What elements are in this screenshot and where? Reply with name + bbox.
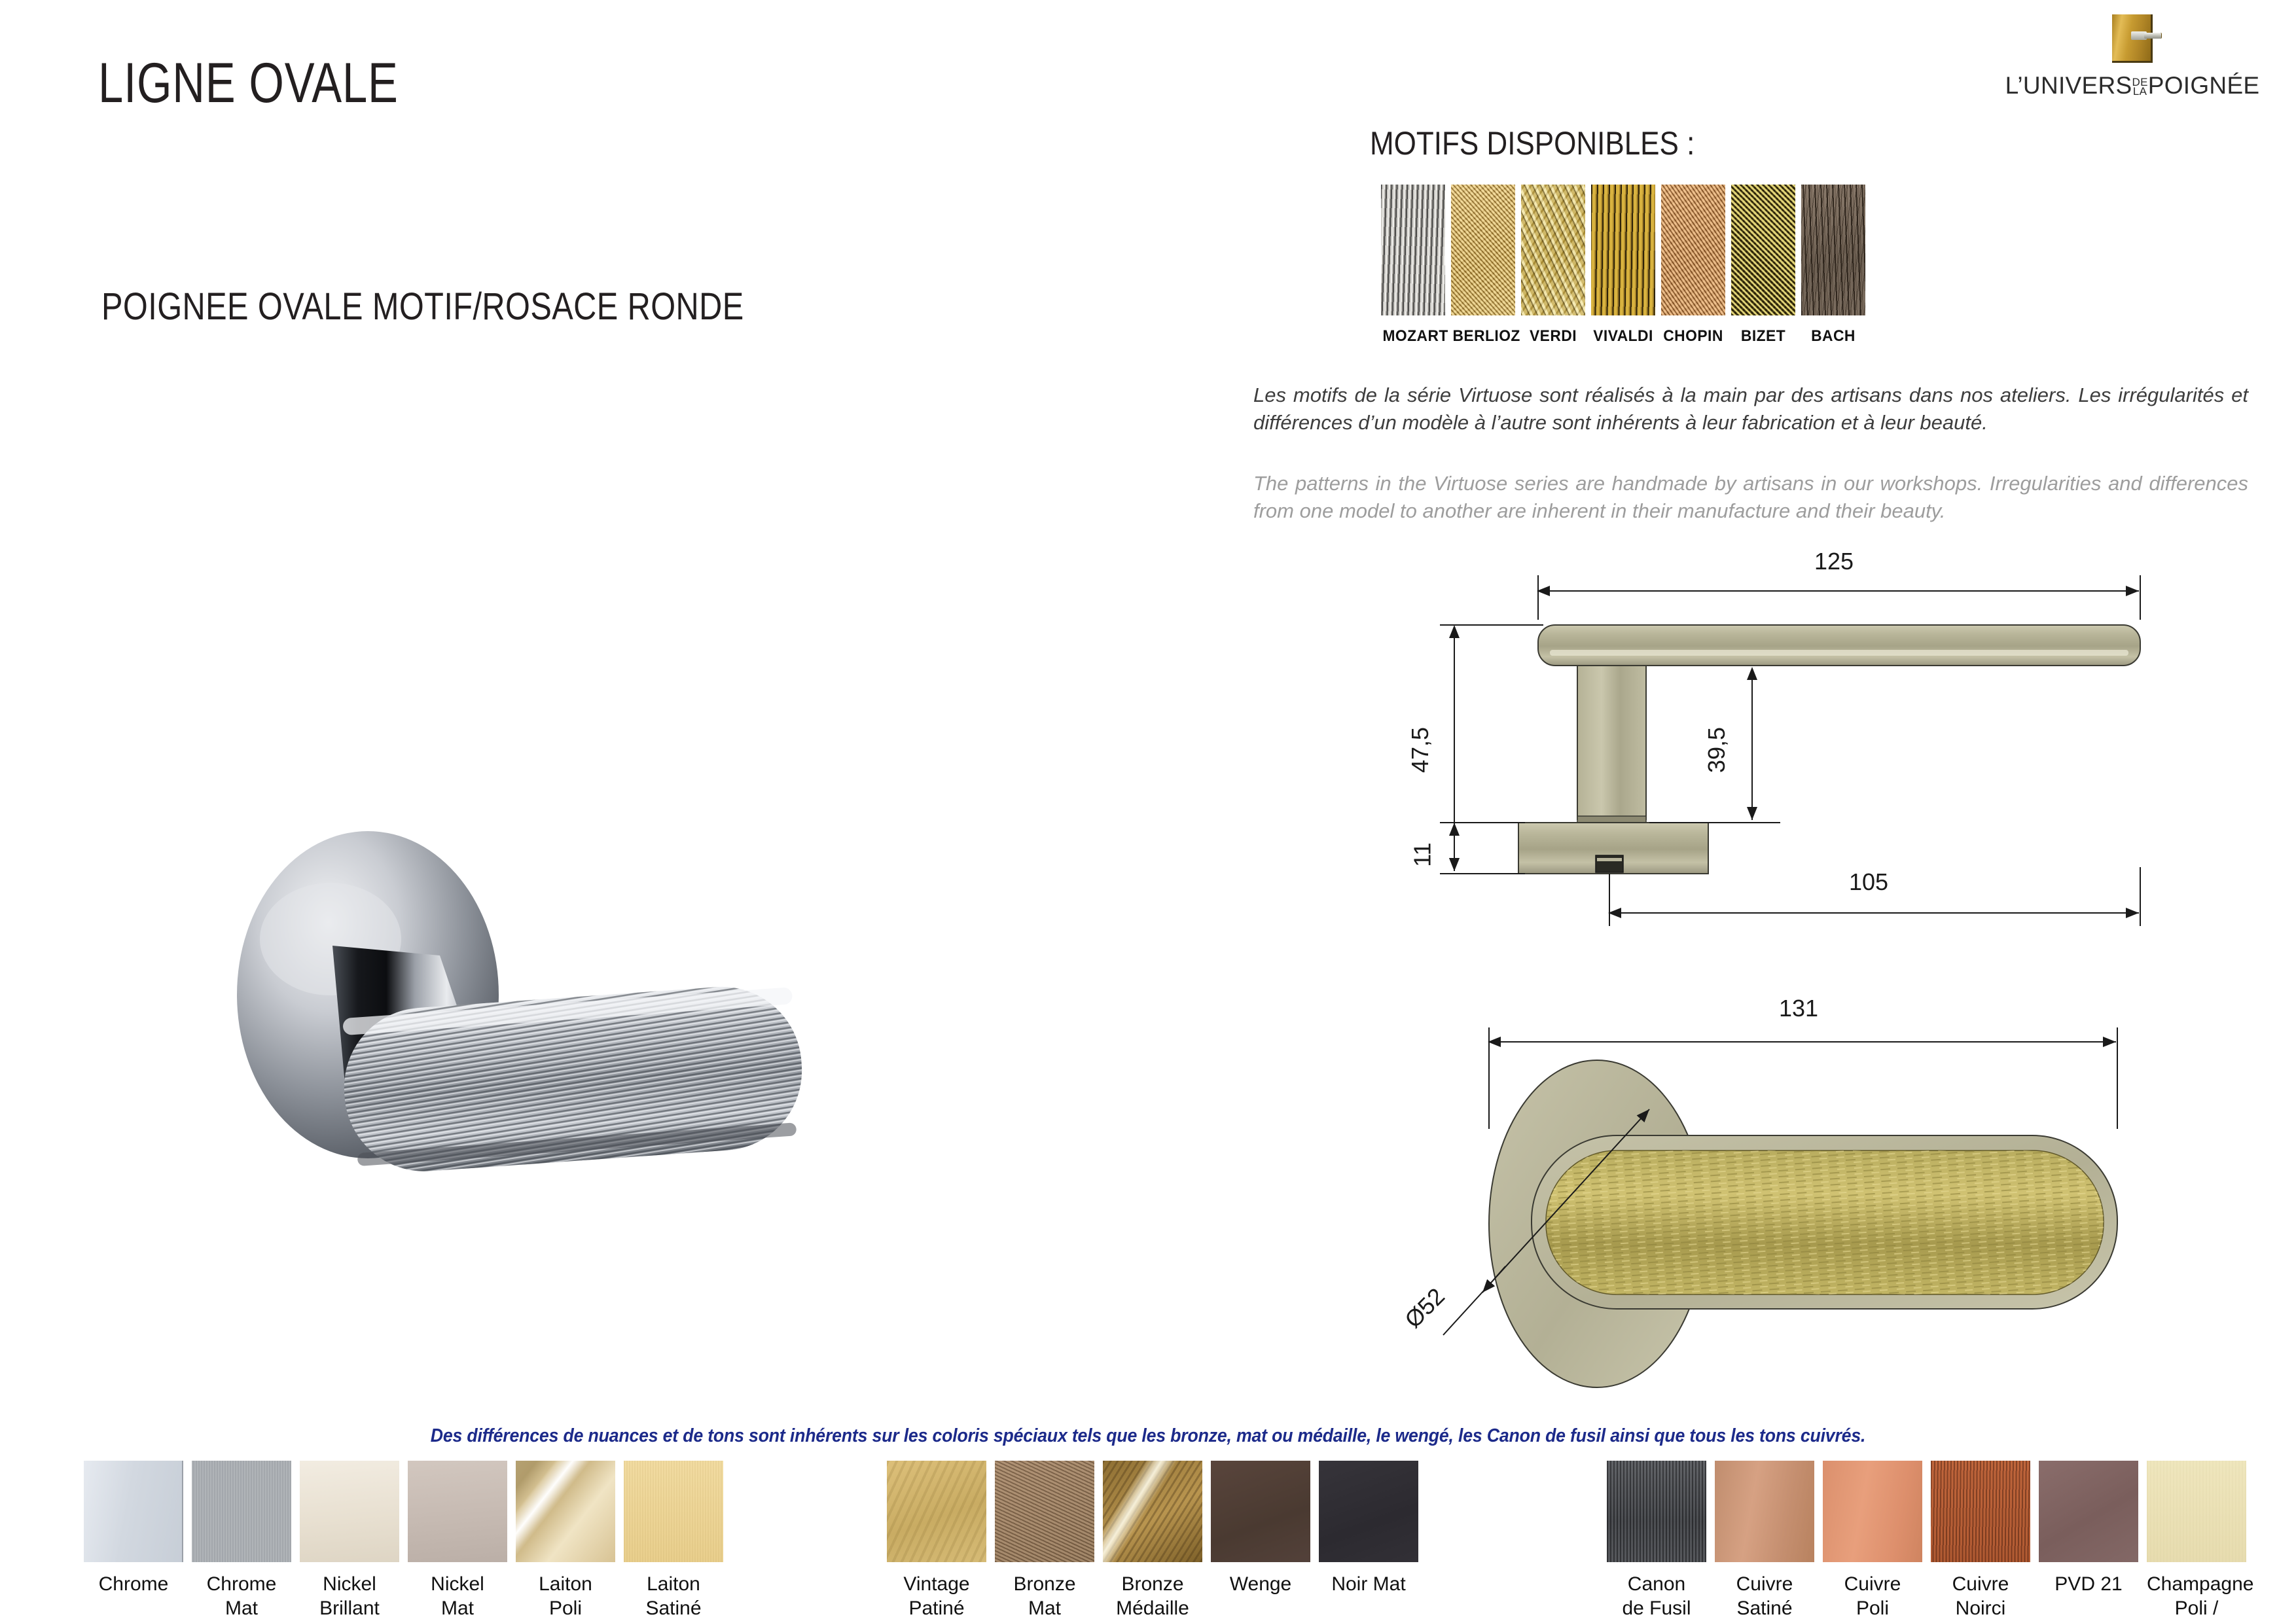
top-view-svg bbox=[1407, 988, 2278, 1394]
product-photo-svg bbox=[183, 798, 956, 1217]
page-subtitle: POIGNEE OVALE MOTIF/ROSACE RONDE bbox=[101, 285, 744, 329]
finish-swatch[interactable] bbox=[192, 1461, 291, 1562]
finish-swatch[interactable] bbox=[1823, 1461, 1922, 1562]
colour-variation-notice: Des différences de nuances et de tons so… bbox=[92, 1425, 2204, 1447]
finish-label: Cuivre Noirci bbox=[1931, 1573, 2030, 1620]
finish-swatch[interactable] bbox=[516, 1461, 615, 1562]
motif-item[interactable]: BERLIOZ bbox=[1451, 185, 1515, 346]
motif-label: CHOPIN bbox=[1662, 327, 1723, 346]
finish-item[interactable]: Bronze Médaille bbox=[1103, 1461, 1202, 1623]
finish-item[interactable]: Nickel Mat bbox=[408, 1461, 507, 1620]
finish-label: Nickel Mat bbox=[408, 1573, 507, 1620]
finish-label: Cuivre Poli bbox=[1823, 1573, 1922, 1620]
finish-label: Laiton Satiné bbox=[624, 1573, 723, 1620]
finish-label: Bronze Mat bbox=[995, 1573, 1094, 1620]
motif-label: VIVALDI bbox=[1592, 327, 1653, 346]
dimension-125: 125 bbox=[1814, 548, 1854, 575]
motifs-list: MOZARTBERLIOZVERDIVIVALDICHOPINBIZETBACH bbox=[1381, 185, 1865, 346]
dimension-39-5: 39,5 bbox=[1703, 727, 1731, 773]
finish-label: Chrome bbox=[84, 1573, 183, 1597]
finish-item[interactable]: PVD 21 bbox=[2039, 1461, 2138, 1623]
finish-swatch[interactable] bbox=[2039, 1461, 2138, 1562]
finish-swatch[interactable] bbox=[84, 1461, 183, 1562]
motif-item[interactable]: VERDI bbox=[1521, 185, 1585, 346]
logo-word-univers: L’UNIVERS bbox=[2005, 72, 2132, 99]
finish-item[interactable]: Vintage Patiné Verni bbox=[887, 1461, 986, 1623]
technical-drawing-front-view: 125 47,5 39,5 11 105 bbox=[1361, 560, 2265, 933]
finish-item[interactable]: Chrome bbox=[84, 1461, 183, 1620]
description-french: Les motifs de la série Virtuose sont réa… bbox=[1253, 382, 2248, 437]
motif-label: BIZET bbox=[1732, 327, 1793, 346]
finish-item[interactable]: Laiton Satiné bbox=[624, 1461, 723, 1620]
finish-item[interactable]: Cuivre Noirci bbox=[1931, 1461, 2030, 1623]
motif-item[interactable]: CHOPIN bbox=[1661, 185, 1725, 346]
finish-swatch[interactable] bbox=[2147, 1461, 2246, 1562]
finish-swatch[interactable] bbox=[1715, 1461, 1814, 1562]
finish-swatch[interactable] bbox=[995, 1461, 1094, 1562]
finish-label: Champagne Poli / Satiné bbox=[2147, 1573, 2246, 1623]
dimension-131: 131 bbox=[1779, 995, 1818, 1022]
finish-group-standard: ChromeChrome MatNickel BrillantNickel Ma… bbox=[84, 1461, 723, 1620]
finish-swatch[interactable] bbox=[1607, 1461, 1706, 1562]
finish-swatch[interactable] bbox=[1103, 1461, 1202, 1562]
finish-item[interactable]: Laiton Poli bbox=[516, 1461, 615, 1620]
finish-label: Noir Mat bbox=[1319, 1573, 1418, 1597]
finish-item[interactable]: Canon de Fusil bbox=[1607, 1461, 1706, 1623]
finish-item[interactable]: Chrome Mat bbox=[192, 1461, 291, 1620]
finish-item[interactable]: Champagne Poli / Satiné bbox=[2147, 1461, 2246, 1623]
finish-item[interactable]: Noir Mat bbox=[1319, 1461, 1418, 1623]
brand-logo-text: L’UNIVERSDELAPOIGNÉE bbox=[1995, 72, 2270, 99]
front-view-svg bbox=[1361, 560, 2265, 933]
motif-label: BERLIOZ bbox=[1452, 327, 1513, 346]
motif-label: BACH bbox=[1803, 327, 1863, 346]
finish-item[interactable]: Bronze Mat bbox=[995, 1461, 1094, 1623]
finish-label: Bronze Médaille bbox=[1103, 1573, 1202, 1620]
motif-swatch-verdi[interactable] bbox=[1521, 185, 1585, 315]
finish-swatch[interactable] bbox=[1931, 1461, 2030, 1562]
finish-group-special: Vintage Patiné VerniBronze MatBronze Méd… bbox=[887, 1461, 1418, 1623]
motif-label: VERDI bbox=[1522, 327, 1583, 346]
finish-label: Nickel Brillant bbox=[300, 1573, 399, 1620]
product-photo bbox=[183, 798, 956, 1217]
finish-item[interactable]: Wenge bbox=[1211, 1461, 1310, 1623]
motif-label: MOZART bbox=[1382, 327, 1443, 346]
finish-swatch[interactable] bbox=[1211, 1461, 1310, 1562]
door-handle-icon bbox=[2112, 14, 2153, 63]
motif-item[interactable]: MOZART bbox=[1381, 185, 1445, 346]
motifs-heading: MOTIFS DISPONIBLES : bbox=[1370, 124, 1695, 162]
motif-item[interactable]: BACH bbox=[1801, 185, 1865, 346]
finish-swatch[interactable] bbox=[887, 1461, 986, 1562]
dimension-105: 105 bbox=[1849, 868, 1888, 896]
finish-label: Laiton Poli bbox=[516, 1573, 615, 1620]
description-english: The patterns in the Virtuose series are … bbox=[1253, 470, 2248, 525]
dimension-47-5: 47,5 bbox=[1407, 727, 1434, 773]
finish-label: Vintage Patiné Verni bbox=[887, 1573, 986, 1623]
finish-item[interactable]: Nickel Brillant bbox=[300, 1461, 399, 1620]
finish-item[interactable]: Cuivre Poli bbox=[1823, 1461, 1922, 1623]
finish-swatch[interactable] bbox=[1319, 1461, 1418, 1562]
finish-label: PVD 21 bbox=[2039, 1573, 2138, 1597]
finish-swatch[interactable] bbox=[624, 1461, 723, 1562]
finish-label: Wenge bbox=[1211, 1573, 1310, 1597]
motif-swatch-vivaldi[interactable] bbox=[1591, 185, 1655, 315]
catalog-page: LIGNE OVALE POIGNEE OVALE MOTIF/ROSACE R… bbox=[0, 0, 2296, 1623]
finish-label: Canon de Fusil bbox=[1607, 1573, 1706, 1620]
motif-swatch-chopin[interactable] bbox=[1661, 185, 1725, 315]
motif-swatch-berlioz[interactable] bbox=[1451, 185, 1515, 315]
logo-word-poignee: POIGNÉE bbox=[2148, 72, 2260, 99]
page-title: LIGNE OVALE bbox=[98, 51, 399, 116]
brand-logo: L’UNIVERSDELAPOIGNÉE bbox=[1995, 14, 2270, 113]
logo-word-de-la: DELA bbox=[2132, 78, 2148, 97]
motif-swatch-bizet[interactable] bbox=[1731, 185, 1795, 315]
technical-drawing-top-view: 131 Ø52 bbox=[1407, 988, 2278, 1394]
finish-item[interactable]: Cuivre Satiné bbox=[1715, 1461, 1814, 1623]
motif-item[interactable]: BIZET bbox=[1731, 185, 1795, 346]
motif-swatch-mozart[interactable] bbox=[1381, 185, 1445, 315]
motif-swatch-bach[interactable] bbox=[1801, 185, 1865, 315]
dimension-11: 11 bbox=[1409, 842, 1437, 866]
finish-swatch[interactable] bbox=[300, 1461, 399, 1562]
finish-label: Chrome Mat bbox=[192, 1573, 291, 1620]
finish-group-copper: Canon de FusilCuivre SatinéCuivre PoliCu… bbox=[1607, 1461, 2246, 1623]
finish-label: Cuivre Satiné bbox=[1715, 1573, 1814, 1620]
finish-swatch[interactable] bbox=[408, 1461, 507, 1562]
motif-item[interactable]: VIVALDI bbox=[1591, 185, 1655, 346]
